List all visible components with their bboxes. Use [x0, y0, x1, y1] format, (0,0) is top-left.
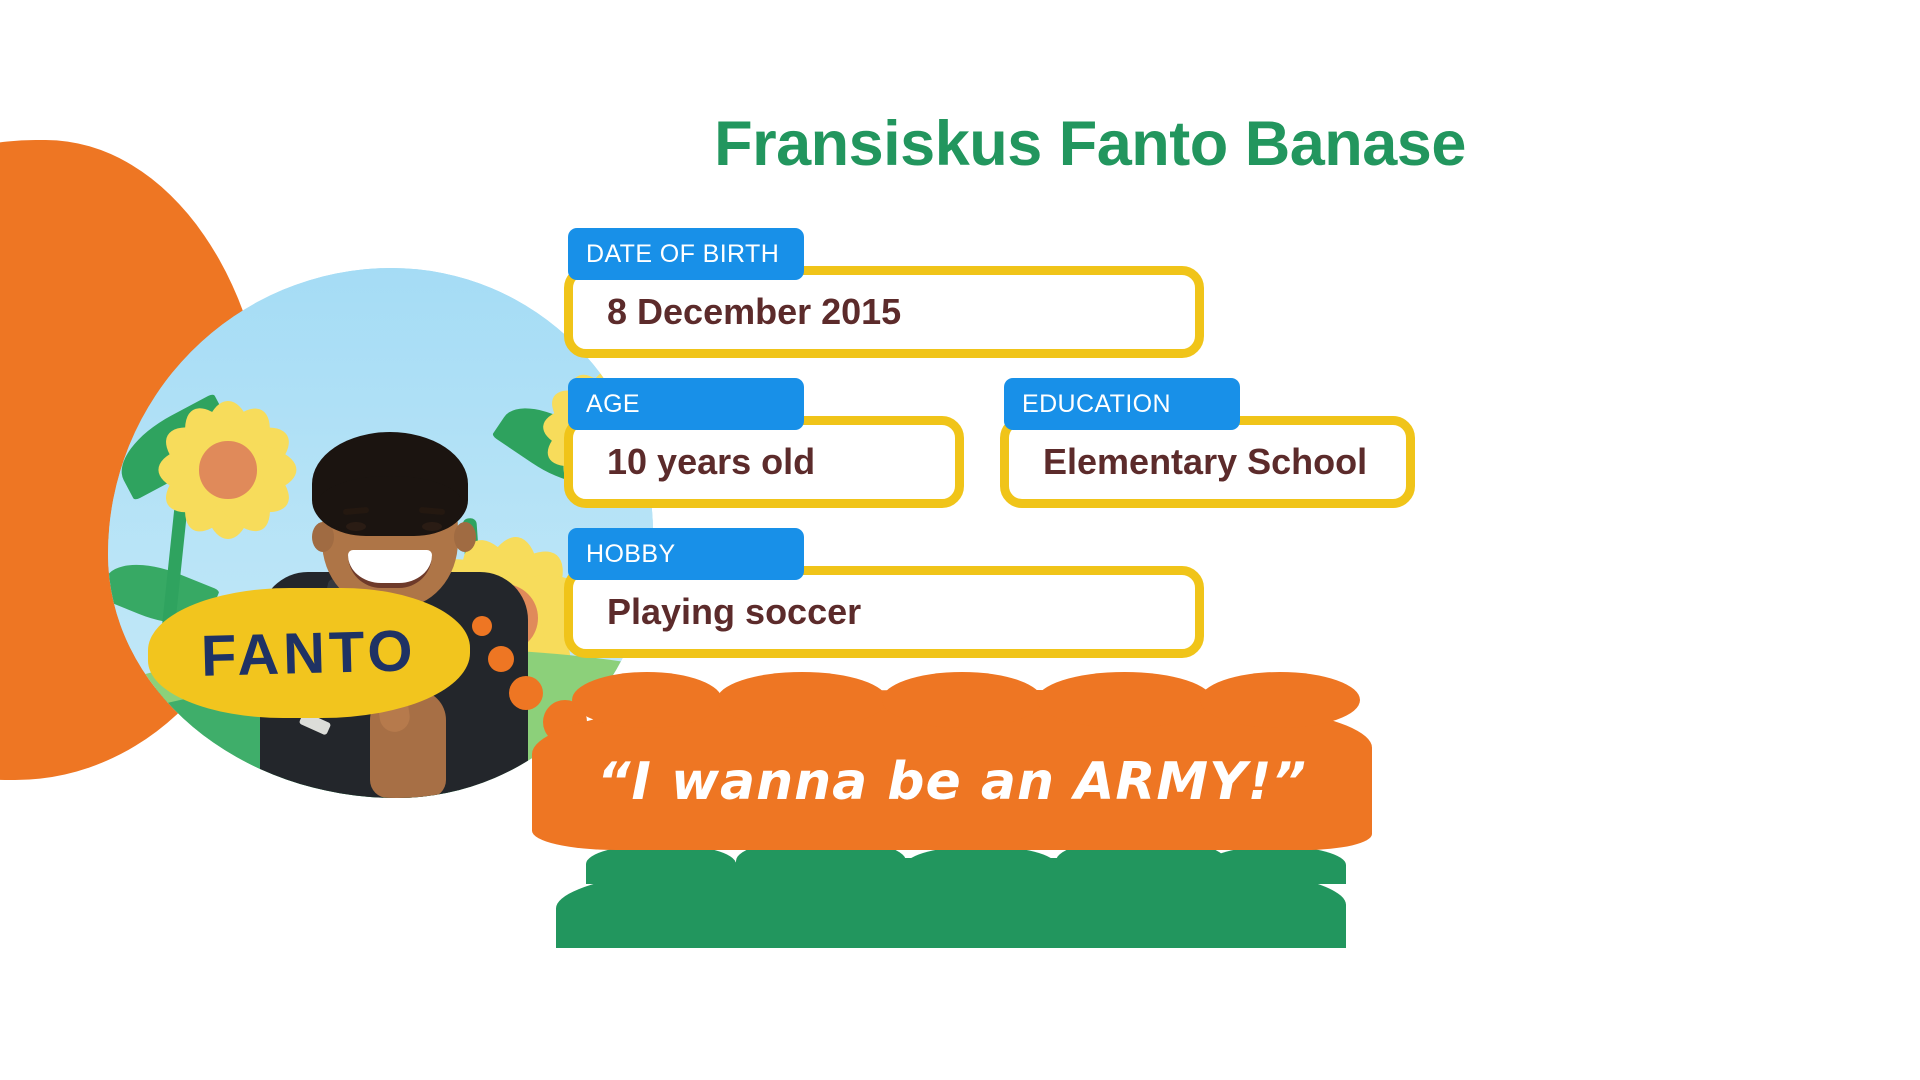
speech-dot [488, 646, 514, 672]
field-label-date-of-birth: DATE OF BIRTH [568, 228, 804, 280]
profile-card: Fransiskus Fanto Banase [0, 0, 1920, 1080]
field-label-hobby: HOBBY [568, 528, 804, 580]
field-value-education: Elementary School [1009, 441, 1367, 483]
field-value-hobby: Playing soccer [573, 591, 861, 633]
green-wave-decoration [556, 858, 1346, 948]
field-label-education: EDUCATION [1004, 378, 1240, 430]
nickname-label: FANTO [200, 617, 417, 690]
nickname-badge: FANTO [148, 588, 470, 718]
banner-bumps [532, 672, 1372, 732]
quote-text: “I wanna be an ARMY!” [532, 752, 1372, 812]
field-value-date-of-birth: 8 December 2015 [573, 291, 901, 333]
page-title: Fransiskus Fanto Banase [480, 108, 1700, 180]
speech-dot [472, 616, 492, 636]
field-value-age: 10 years old [573, 441, 815, 483]
field-label-age: AGE [568, 378, 804, 430]
